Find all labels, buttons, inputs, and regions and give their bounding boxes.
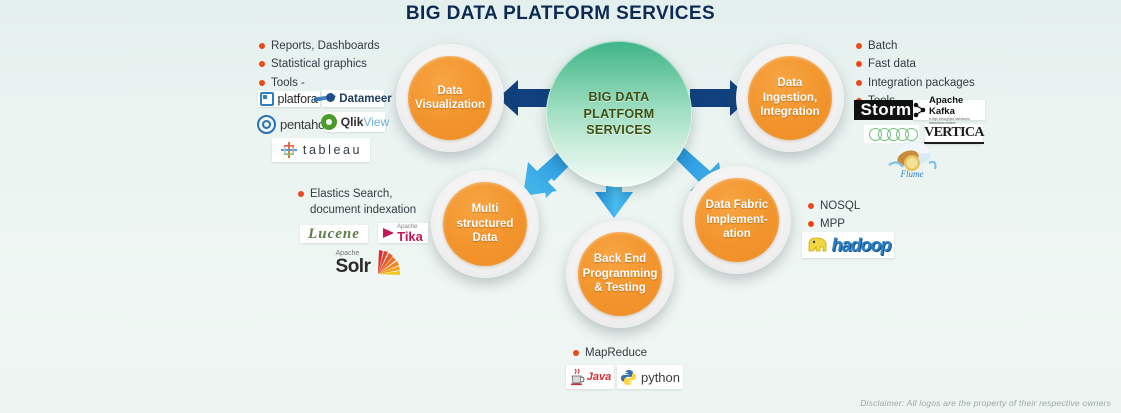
bullet-item: MapReduce bbox=[573, 345, 693, 361]
bullet-dot bbox=[856, 43, 862, 49]
hadoop-elephant-icon bbox=[806, 235, 830, 255]
node-label: DataVisualization bbox=[411, 84, 489, 113]
node-data-fabric-implementation[interactable]: Data FabricImplement-ation bbox=[683, 166, 791, 274]
bullet-item: Integration packages bbox=[856, 75, 991, 91]
kafka-mark-icon bbox=[913, 102, 926, 118]
bullet-dot bbox=[573, 350, 579, 356]
pentaho-mark-icon bbox=[257, 115, 276, 134]
logo-apache-tika: Apache Tika bbox=[378, 223, 428, 243]
bullet-dot bbox=[808, 203, 814, 209]
node-data-visualization[interactable]: DataVisualization bbox=[396, 44, 504, 152]
bullet-item: Fast data bbox=[856, 56, 991, 72]
node-data-ingestion-integration[interactable]: DataIngestion,Integration bbox=[736, 44, 844, 152]
hub-label: BIG DATA PLATFORM SERVICES bbox=[584, 89, 655, 139]
node-label: Data FabricImplement-ation bbox=[702, 198, 773, 241]
bullets-multistructured: Elastics Search, document indexation bbox=[298, 186, 428, 221]
logo-qlikview: QlikView bbox=[325, 112, 385, 132]
node-label: DataIngestion,Integration bbox=[756, 76, 823, 119]
bullet-item: NOSQL bbox=[808, 198, 918, 214]
hub-big-data-platform-services[interactable]: BIG DATA PLATFORM SERVICES bbox=[546, 41, 692, 187]
bullet-item: Reports, Dashboards bbox=[259, 38, 384, 54]
bullet-dot bbox=[856, 80, 862, 86]
bullet-dot bbox=[259, 43, 265, 49]
flume-mark-icon: Flume bbox=[881, 139, 941, 187]
tableau-mark-icon bbox=[280, 141, 298, 159]
node-disc: Data FabricImplement-ation bbox=[695, 178, 779, 262]
bullet-item: Statistical graphics bbox=[259, 56, 384, 72]
logo-flume: Flume bbox=[880, 143, 942, 183]
python-mark-icon bbox=[620, 369, 637, 386]
datameer-mark-icon bbox=[314, 93, 336, 105]
svg-text:Flume: Flume bbox=[900, 169, 924, 179]
node-label: MultistructuredData bbox=[453, 202, 518, 245]
bullet-item: MPP bbox=[808, 216, 918, 232]
tika-mark-icon bbox=[383, 228, 394, 238]
node-back-end-programming-testing[interactable]: Back EndProgramming& Testing bbox=[566, 220, 674, 328]
logo-lucene: Lucene bbox=[300, 225, 368, 243]
page-title: BIG DATA PLATFORM SERVICES bbox=[0, 3, 1121, 25]
bullet-dot bbox=[298, 191, 304, 197]
java-cup-icon bbox=[569, 368, 585, 386]
diagram-canvas: BIG DATA PLATFORM SERVICES bbox=[0, 0, 1121, 413]
node-disc: MultistructuredData bbox=[443, 182, 527, 266]
bullets-backend: MapReduce bbox=[573, 345, 693, 363]
node-multi-structured-data[interactable]: MultistructuredData bbox=[431, 170, 539, 278]
node-label: Back EndProgramming& Testing bbox=[579, 252, 662, 295]
solr-mark-icon bbox=[372, 248, 402, 278]
logo-pentaho: pentaho bbox=[258, 114, 324, 134]
bullet-dot bbox=[856, 61, 862, 67]
node-disc: Back EndProgramming& Testing bbox=[578, 232, 662, 316]
bullets-datafabric: NOSQL MPP bbox=[808, 198, 918, 235]
bullets-visualization: Reports, Dashboards Statistical graphics… bbox=[259, 38, 384, 93]
bullet-item: Elastics Search, document indexation bbox=[298, 186, 428, 219]
logo-tableau: tableau bbox=[272, 138, 370, 162]
qlikview-mark-icon bbox=[321, 114, 337, 130]
bullet-dot bbox=[259, 80, 265, 86]
platfora-mark-icon bbox=[260, 92, 274, 106]
logo-hadoop: hadoop bbox=[802, 232, 894, 258]
logo-java: Java bbox=[566, 365, 614, 389]
logo-datameer: Datameer bbox=[322, 90, 384, 107]
node-disc: DataVisualization bbox=[408, 56, 492, 140]
node-disc: DataIngestion,Integration bbox=[748, 56, 832, 140]
bullet-dot bbox=[259, 61, 265, 67]
logo-python: python bbox=[617, 365, 683, 389]
bullet-item: Tools - bbox=[259, 75, 384, 91]
bullet-dot bbox=[808, 221, 814, 227]
disclaimer-text: Disclaimer: All logos are the property o… bbox=[860, 398, 1111, 408]
logo-apache-kafka: Apache Kafka A high-throughput distribut… bbox=[913, 100, 985, 120]
logo-storm: Storm bbox=[862, 100, 910, 120]
bullet-item: Batch bbox=[856, 38, 991, 54]
logo-platfora: platfora bbox=[258, 91, 320, 107]
logo-apache-solr: Apache Solr bbox=[330, 246, 408, 280]
